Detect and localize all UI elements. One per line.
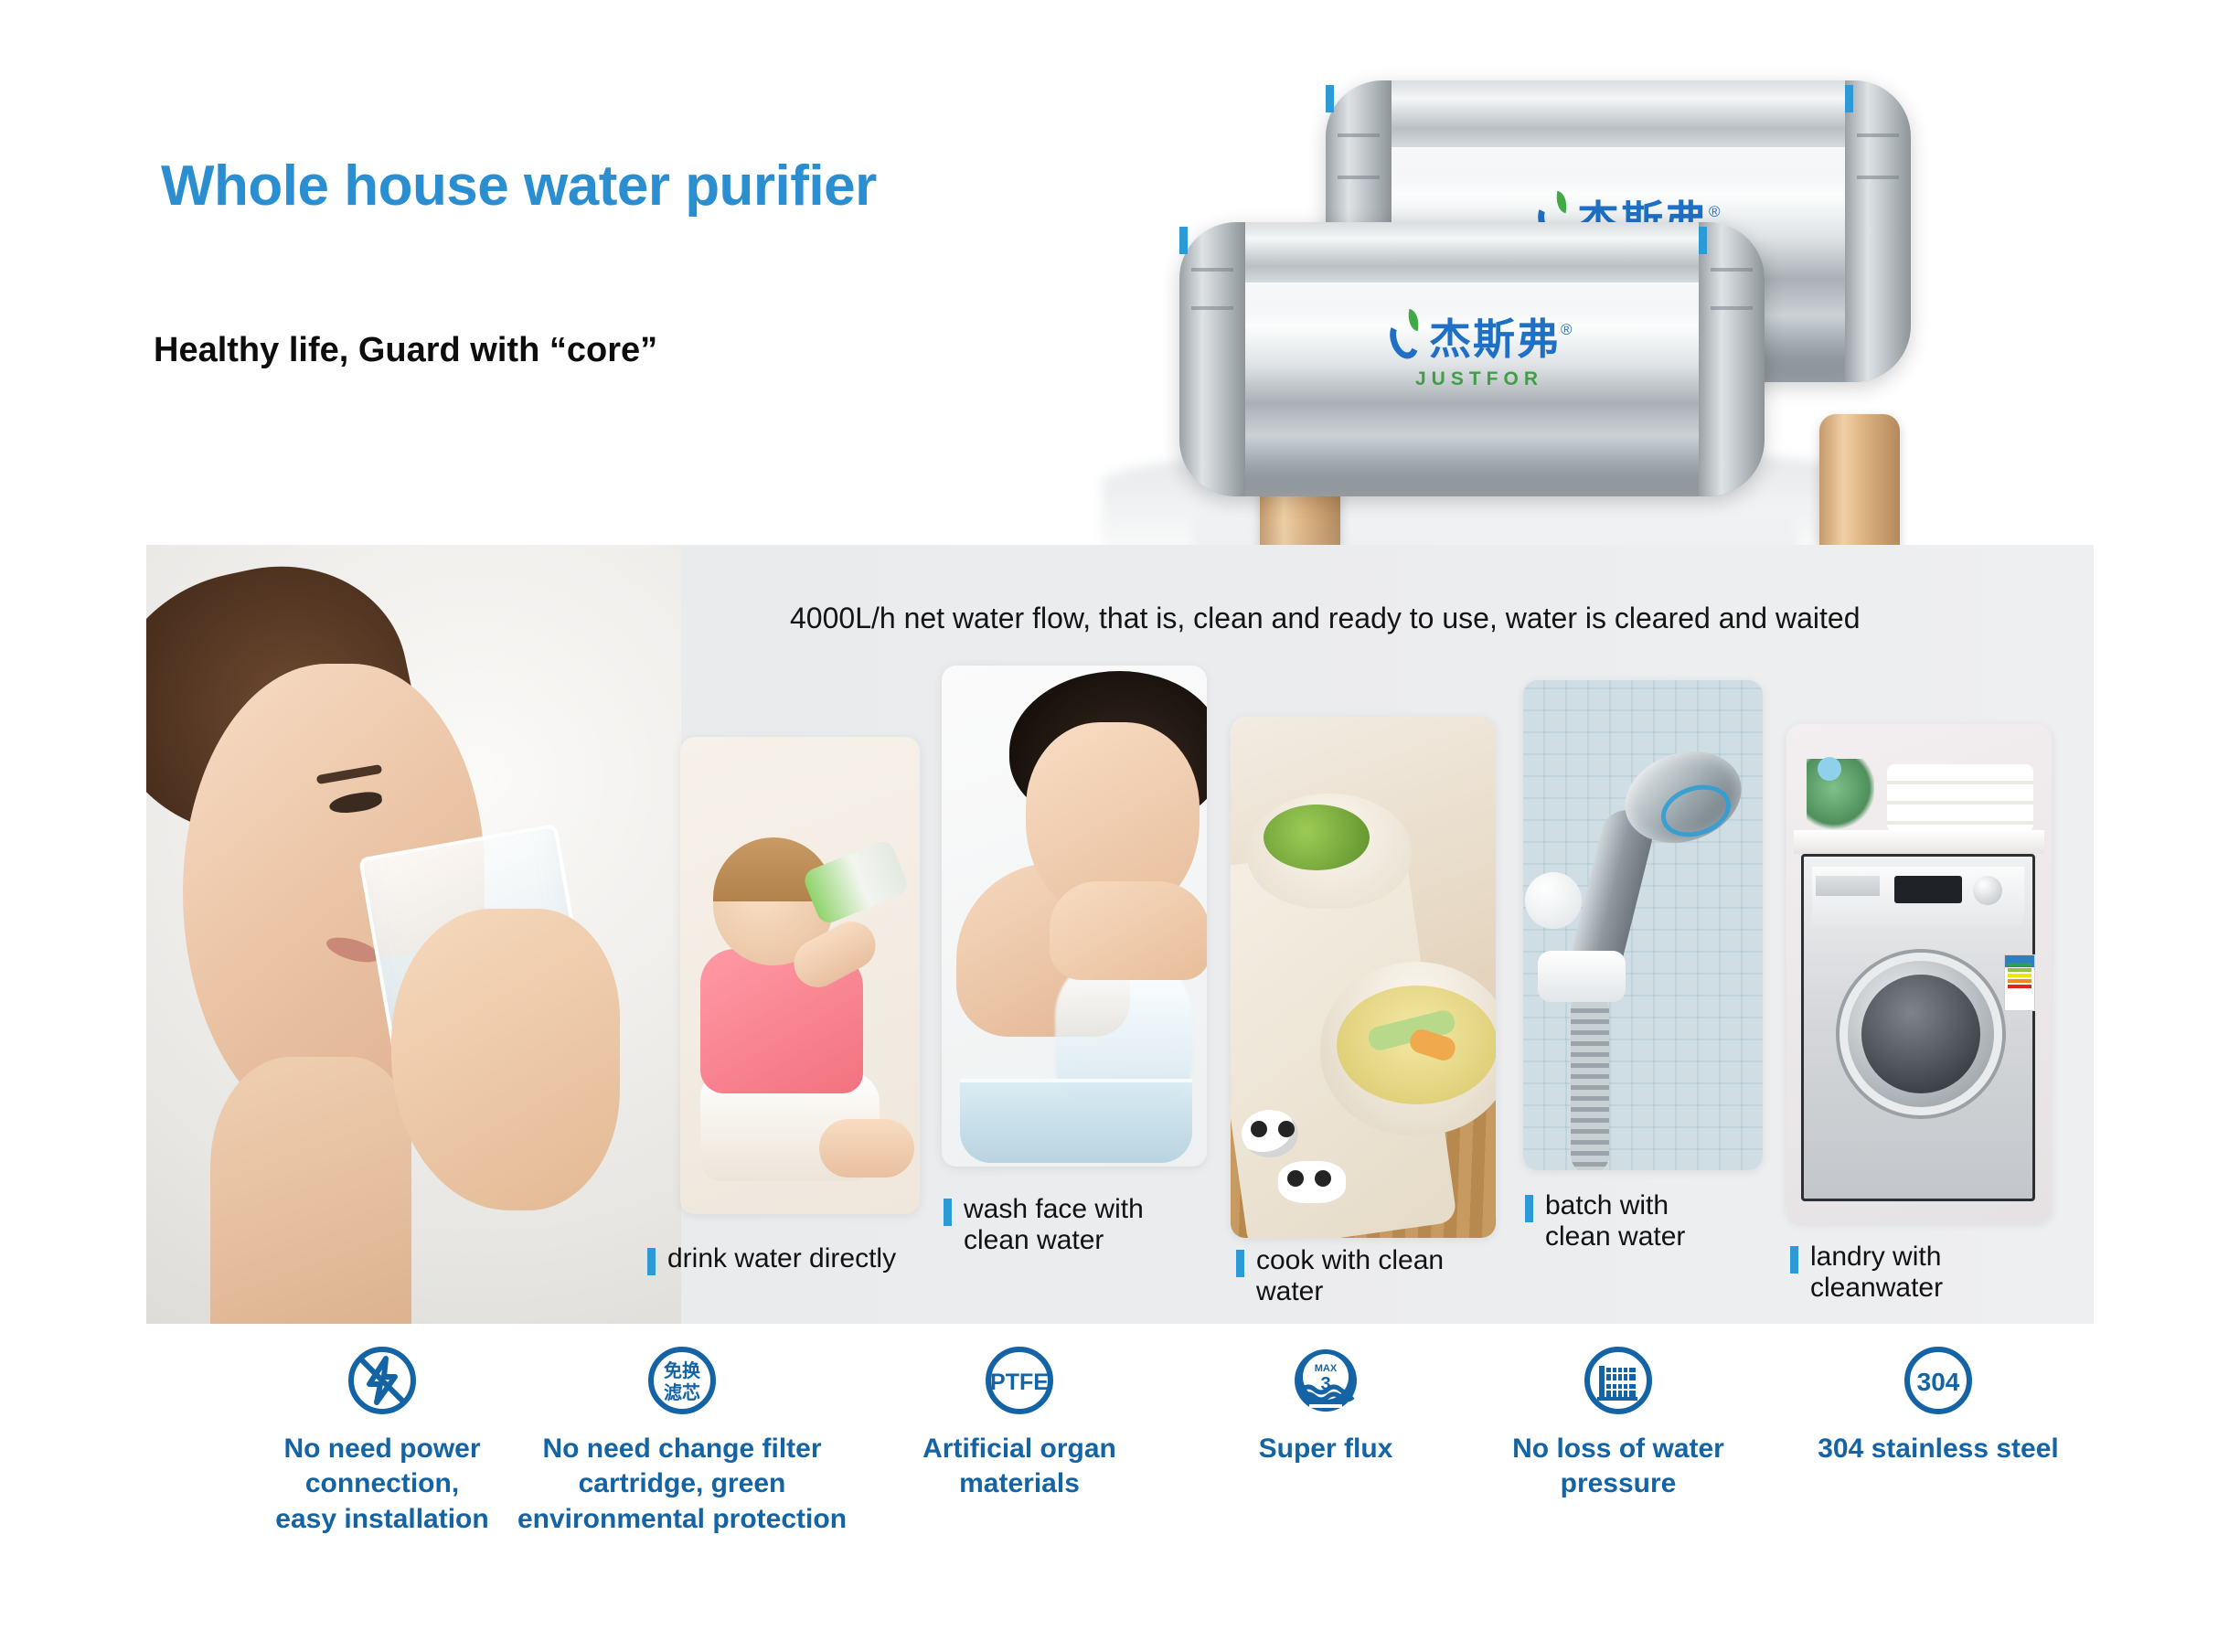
page-title: Whole house water purifier bbox=[161, 154, 877, 218]
purifier-front-cap-left bbox=[1179, 222, 1245, 496]
caption-batch-line2: clean water bbox=[1545, 1221, 1685, 1252]
svg-text:MAX: MAX bbox=[1315, 1363, 1338, 1374]
purifier-back-cap-right bbox=[1845, 80, 1911, 382]
product-hero-image: 杰斯弗® 杰斯弗® JUSTFOR bbox=[1074, 80, 1915, 547]
caption-landry: landry with cleanwater bbox=[1790, 1242, 2010, 1303]
feature-1-line1: No need change filter bbox=[542, 1434, 821, 1464]
feature-4-line2: pressure bbox=[1561, 1468, 1677, 1498]
caption-batch: batch with clean water bbox=[1525, 1190, 1735, 1252]
svg-text:免换: 免换 bbox=[664, 1359, 701, 1381]
caption-cook-text: cook with clean water bbox=[1256, 1245, 1444, 1306]
photo-vegetable-soup bbox=[1231, 717, 1496, 1238]
feature-304-stainless: 304 304 stainless steel bbox=[1783, 1342, 2094, 1466]
flow-rate-note: 4000L/h net water flow, that is, clean a… bbox=[790, 602, 1860, 635]
purifier-front-body bbox=[1179, 222, 1765, 496]
page-subtitle: Healthy life, Guard with “core” bbox=[154, 331, 657, 370]
svg-text:PTFE: PTFE bbox=[990, 1370, 1049, 1395]
feature-strip: No need power connection, easy installat… bbox=[146, 1342, 2094, 1644]
stainless-304-icon: 304 bbox=[1900, 1342, 1977, 1419]
feature-1-line3: environmental protection bbox=[517, 1504, 847, 1534]
no-pressure-loss-icon bbox=[1580, 1342, 1657, 1419]
feature-0-line2: connection, bbox=[305, 1468, 459, 1498]
caption-drink-water: drink water directly bbox=[647, 1243, 922, 1274]
feature-no-power: No need power connection, easy installat… bbox=[245, 1342, 519, 1537]
caption-drink-text: drink water directly bbox=[667, 1243, 896, 1274]
poster-root: Whole house water purifier Healthy life,… bbox=[0, 0, 2218, 1652]
caption-wash-face-line2: clean water bbox=[964, 1225, 1104, 1255]
feature-0-line1: No need power bbox=[283, 1434, 480, 1464]
usage-panel: 4000L/h net water flow, that is, clean a… bbox=[146, 545, 2094, 1324]
caption-cook: cook with clean water bbox=[1236, 1245, 1510, 1306]
svg-text:滤芯: 滤芯 bbox=[664, 1381, 700, 1403]
caption-wash-face: wash face with clean water bbox=[944, 1194, 1181, 1255]
caption-wash-face-line1: wash face with bbox=[964, 1194, 1144, 1224]
caption-landry-line1: landry with bbox=[1810, 1242, 1941, 1272]
no-filter-change-icon: 免换 滤芯 bbox=[644, 1342, 720, 1419]
feature-no-pressure-loss: No loss of water pressure bbox=[1454, 1342, 1783, 1502]
feature-super-flux: MAX 3 Super flux bbox=[1189, 1342, 1463, 1466]
svg-text:304: 304 bbox=[1917, 1368, 1960, 1396]
max-flux-icon: MAX 3 bbox=[1287, 1342, 1364, 1419]
feature-0-line3: easy installation bbox=[275, 1504, 488, 1534]
feature-4-line1: No loss of water bbox=[1512, 1434, 1724, 1464]
photo-woman-drinking-water bbox=[146, 545, 681, 1324]
purifier-unit-front: 杰斯弗® JUSTFOR bbox=[1179, 222, 1765, 496]
feature-1-line2: cartridge, green bbox=[579, 1468, 786, 1498]
photo-baby-drinking-bottle bbox=[680, 737, 920, 1214]
photo-shower-head bbox=[1523, 680, 1763, 1170]
caption-landry-line2: cleanwater bbox=[1810, 1273, 1943, 1303]
feature-2-line2: materials bbox=[959, 1468, 1080, 1498]
feature-3-line1: Super flux bbox=[1259, 1434, 1393, 1464]
purifier-front-cap-right bbox=[1699, 222, 1765, 496]
photo-washing-machine bbox=[1786, 724, 2052, 1223]
feature-ptfe: PTFE Artificial organ materials bbox=[869, 1342, 1170, 1502]
feature-5-line1: 304 stainless steel bbox=[1818, 1434, 2059, 1464]
feature-no-filter-change: 免换 滤芯 No need change filter cartridge, g… bbox=[499, 1342, 865, 1537]
caption-batch-line1: batch with bbox=[1545, 1190, 1669, 1220]
ptfe-icon: PTFE bbox=[981, 1342, 1058, 1419]
feature-2-line1: Artificial organ bbox=[922, 1434, 1116, 1464]
photo-woman-washing-face bbox=[942, 666, 1207, 1167]
no-power-icon bbox=[344, 1342, 421, 1419]
